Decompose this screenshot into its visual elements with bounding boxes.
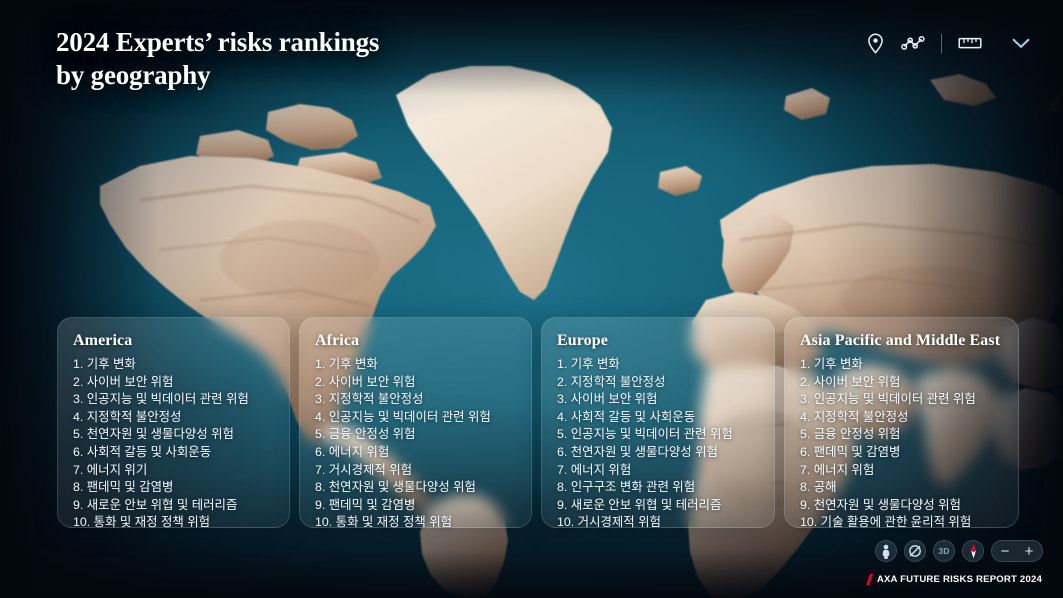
card-title: Africa [315, 332, 516, 350]
card-title: America [73, 332, 274, 350]
list-item: 4. 인공지능 및 빅데이터 관련 위험 [315, 409, 516, 427]
list-item: 7. 에너지 위기 [73, 462, 274, 480]
list-item: 10. 통화 및 재정 정책 위험 [73, 514, 274, 532]
route-path-icon [901, 33, 925, 53]
compass-icon [969, 543, 978, 559]
list-item: 6. 에너지 위험 [315, 444, 516, 462]
list-item: 10. 통화 및 재정 정책 위험 [315, 514, 516, 532]
page-title: 2024 Experts’ risks rankings by geograph… [56, 26, 379, 92]
measure-distance-button[interactable] [951, 28, 989, 58]
list-item: 7. 에너지 위험 [557, 462, 759, 480]
three-d-label: 3D [938, 546, 949, 556]
map-slide: 2024 Experts’ risks rankings by geograph… [0, 0, 1063, 598]
card-asia-pacific-middle-east[interactable]: Asia Pacific and Middle East 1. 기후 변화 2.… [784, 317, 1019, 528]
map-pin-icon [867, 33, 884, 54]
axa-slash-icon [866, 574, 874, 585]
list-item: 8. 공해 [800, 479, 1003, 497]
zoom-out-button[interactable]: − [994, 541, 1016, 561]
ruler-icon [958, 35, 982, 51]
list-item: 2. 사이버 보안 위험 [73, 374, 274, 392]
street-view-button[interactable] [875, 540, 897, 562]
list-item: 4. 지정학적 불안정성 [800, 409, 1003, 427]
list-item: 10. 기술 활용에 관한 윤리적 위험 [800, 514, 1003, 532]
chevron-down-icon [1012, 38, 1030, 49]
list-item: 2. 사이버 보안 위험 [315, 374, 516, 392]
map-tools-toolbar [856, 28, 1041, 58]
regional-rankings-cards: America 1. 기후 변화 2. 사이버 보안 위험 3. 인공지능 및 … [57, 317, 1019, 528]
measure-path-button[interactable] [894, 28, 932, 58]
list-item: 6. 천연자원 및 생물다양성 위험 [557, 444, 759, 462]
list-item: 10. 거시경제적 위험 [557, 514, 759, 532]
list-item: 1. 기후 변화 [73, 356, 274, 374]
list-item: 7. 에너지 위험 [800, 462, 1003, 480]
list-item: 1. 기후 변화 [557, 356, 759, 374]
list-item: 7. 거시경제적 위험 [315, 462, 516, 480]
list-item: 4. 지정학적 불안정성 [73, 409, 274, 427]
list-item: 6. 사회적 갈등 및 사회운동 [73, 444, 274, 462]
risk-list: 1. 기후 변화 2. 사이버 보안 위험 3. 인공지능 및 빅데이터 관련 … [800, 356, 1003, 532]
list-item: 1. 기후 변화 [315, 356, 516, 374]
card-title: Asia Pacific and Middle East [800, 332, 1003, 350]
list-item: 2. 사이버 보안 위험 [800, 374, 1003, 392]
list-item: 1. 기후 변화 [800, 356, 1003, 374]
toolbar-divider [941, 34, 942, 53]
list-item: 5. 금융 안정성 위험 [315, 426, 516, 444]
list-item: 5. 천연자원 및 생물다양성 위험 [73, 426, 274, 444]
list-item: 3. 지정학적 불안정성 [315, 391, 516, 409]
map-view-controls: 3D − + [875, 540, 1043, 562]
card-europe[interactable]: Europe 1. 기후 변화 2. 지정학적 불안정성 3. 사이버 보안 위… [541, 317, 775, 528]
list-item: 3. 인공지능 및 빅데이터 관련 위험 [800, 391, 1003, 409]
compass-button[interactable] [962, 540, 984, 562]
list-item: 4. 사회적 갈등 및 사회운동 [557, 409, 759, 427]
eye-off-icon [908, 544, 922, 558]
list-item: 5. 금융 안정성 위험 [800, 426, 1003, 444]
list-item: 2. 지정학적 불안정성 [557, 374, 759, 392]
brand-label: AXA FUTURE RISKS REPORT 2024 [877, 574, 1042, 585]
list-item: 3. 사이버 보안 위험 [557, 391, 759, 409]
hide-layers-button[interactable] [904, 540, 926, 562]
risk-list: 1. 기후 변화 2. 사이버 보안 위험 3. 인공지능 및 빅데이터 관련 … [73, 356, 274, 532]
place-marker-button[interactable] [856, 28, 894, 58]
pegman-icon [880, 544, 892, 559]
list-item: 5. 인공지능 및 빅데이터 관련 위험 [557, 426, 759, 444]
risk-list: 1. 기후 변화 2. 지정학적 불안정성 3. 사이버 보안 위험 4. 사회… [557, 356, 759, 532]
list-item: 6. 팬데믹 및 감염병 [800, 444, 1003, 462]
list-item: 9. 새로운 안보 위협 및 테러리즘 [73, 497, 274, 515]
card-america[interactable]: America 1. 기후 변화 2. 사이버 보안 위험 3. 인공지능 및 … [57, 317, 290, 528]
card-africa[interactable]: Africa 1. 기후 변화 2. 사이버 보안 위험 3. 지정학적 불안정… [299, 317, 532, 528]
zoom-controls: − + [991, 540, 1043, 562]
card-title: Europe [557, 332, 759, 350]
list-item: 8. 천연자원 및 생물다양성 위험 [315, 479, 516, 497]
zoom-in-button[interactable]: + [1018, 541, 1040, 561]
list-item: 9. 천연자원 및 생물다양성 위험 [800, 497, 1003, 515]
collapse-panel-button[interactable] [1001, 28, 1041, 58]
risk-list: 1. 기후 변화 2. 사이버 보안 위험 3. 지정학적 불안정성 4. 인공… [315, 356, 516, 532]
list-item: 9. 팬데믹 및 감염병 [315, 497, 516, 515]
list-item: 9. 새로운 안보 위협 및 테러리즘 [557, 497, 759, 515]
list-item: 3. 인공지능 및 빅데이터 관련 위험 [73, 391, 274, 409]
list-item: 8. 팬데믹 및 감염병 [73, 479, 274, 497]
list-item: 8. 인구구조 변화 관련 위험 [557, 479, 759, 497]
brand-footer: AXA FUTURE RISKS REPORT 2024 [866, 574, 1042, 585]
three-d-toggle-button[interactable]: 3D [933, 540, 955, 562]
